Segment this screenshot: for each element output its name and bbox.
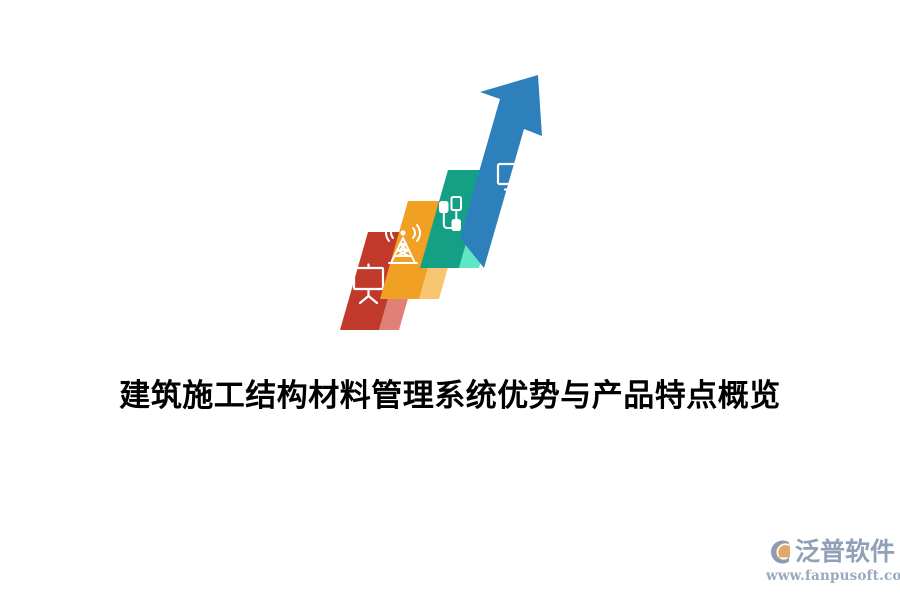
rising-arrow-infographic: [330, 60, 580, 350]
slide-canvas: 建筑施工结构材料管理系统优势与产品特点概览 泛普软件 www.fanpusoft…: [0, 0, 900, 600]
logo-row: 泛普软件: [766, 537, 892, 567]
brand-logo[interactable]: 泛普软件 www.fanpusoft.com: [766, 537, 892, 585]
page-title: 建筑施工结构材料管理系统优势与产品特点概览: [0, 374, 900, 418]
brand-name: 泛普软件: [795, 538, 895, 566]
fanpu-circle-swoosh-icon: [766, 538, 794, 566]
brand-url: www.fanpusoft.com: [766, 568, 892, 584]
